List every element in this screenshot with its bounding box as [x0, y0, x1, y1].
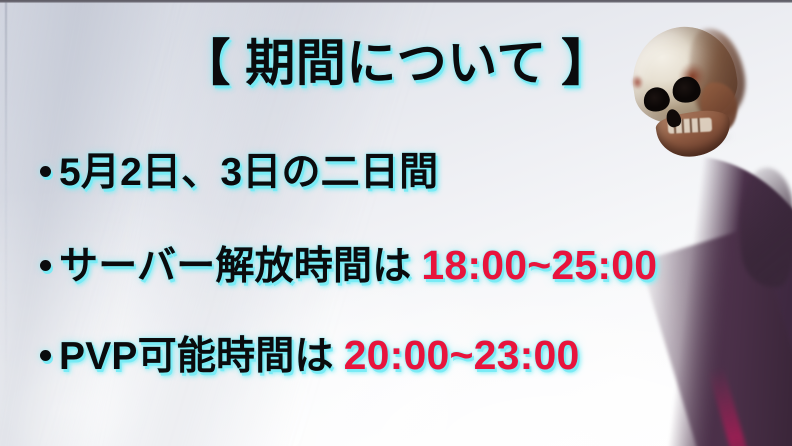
bullet-dot-icon [40, 260, 51, 271]
bullet-text-pvp-window: PVP可能時間は [59, 335, 334, 378]
bullet-line-duration: 5月2日、3日の二日間 [40, 141, 438, 197]
bullet-text-server-open: サーバー解放時間は [59, 245, 411, 288]
presentation-slide: 【 期間について 】 5月2日、3日の二日間 サーバー解放時間は18:00~25… [0, 0, 792, 446]
bullet-line-pvp-window: PVP可能時間は20:00~23:00 [40, 325, 580, 381]
server-open-time-value: 18:00~25:00 [421, 242, 657, 288]
bullet-dot-icon [40, 166, 51, 177]
bullet-text-duration: 5月2日、3日の二日間 [59, 151, 438, 194]
bullet-line-server-open: サーバー解放時間は18:00~25:00 [40, 235, 657, 291]
top-letterbox-border [0, 0, 792, 3]
pvp-window-time-value: 20:00~23:00 [344, 332, 580, 378]
slide-title: 【 期間について 】 [0, 23, 792, 95]
bullet-dot-icon [40, 350, 51, 361]
